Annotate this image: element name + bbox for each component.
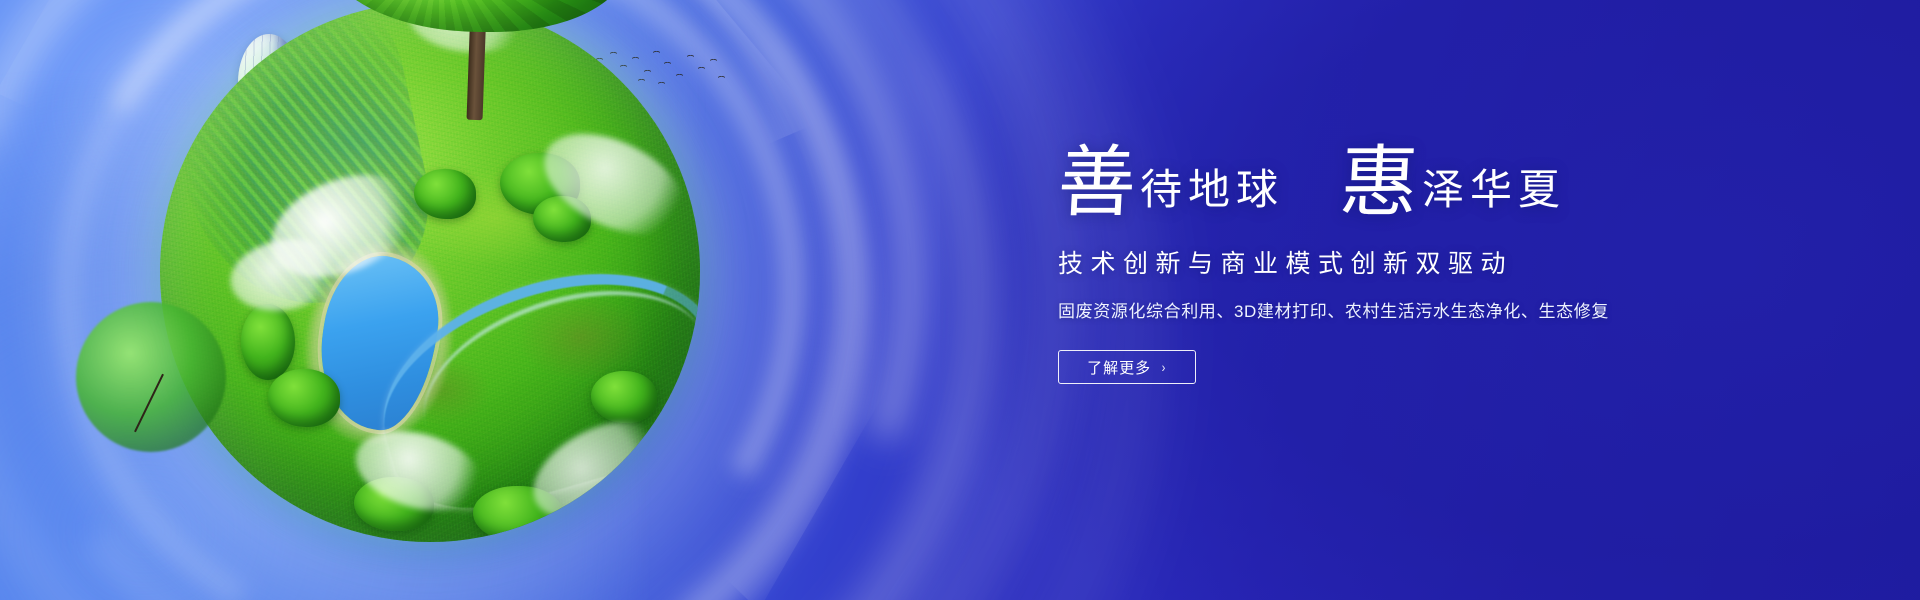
globe-rim-foliage	[160, 2, 700, 542]
tree-foliage-texture	[326, 0, 626, 32]
tree-trunk	[467, 24, 486, 120]
big-tree	[311, 0, 641, 58]
page-title: 善待地球惠泽华夏	[1058, 132, 1818, 218]
side-tree-crown	[76, 302, 226, 452]
side-tree	[76, 302, 226, 452]
headline-word-zehuaxia: 泽华夏	[1422, 170, 1566, 212]
learn-more-label: 了解更多	[1087, 357, 1151, 378]
green-globe	[160, 2, 700, 542]
learn-more-button[interactable]: 了解更多 ›	[1058, 350, 1196, 384]
globe-sphere	[160, 2, 700, 542]
hero-text-panel: 善待地球惠泽华夏 技术创新与商业模式创新双驱动 固废资源化综合利用、3D建材打印…	[1058, 132, 1818, 384]
headline-char-hui: 惠	[1338, 144, 1420, 222]
bird-icon	[718, 76, 725, 80]
hero-description: 固废资源化综合利用、3D建材打印、农村生活污水生态净化、生态修复	[1058, 297, 1818, 322]
headline-char-shan: 善	[1056, 144, 1138, 222]
hero-banner: 善待地球惠泽华夏 技术创新与商业模式创新双驱动 固废资源化综合利用、3D建材打印…	[0, 0, 1920, 600]
headline-word-daidiqiu: 待地球	[1140, 170, 1284, 212]
hero-subtitle: 技术创新与商业模式创新双驱动	[1058, 244, 1818, 280]
chevron-right-icon: ›	[1162, 360, 1167, 374]
bird-icon	[710, 59, 717, 63]
